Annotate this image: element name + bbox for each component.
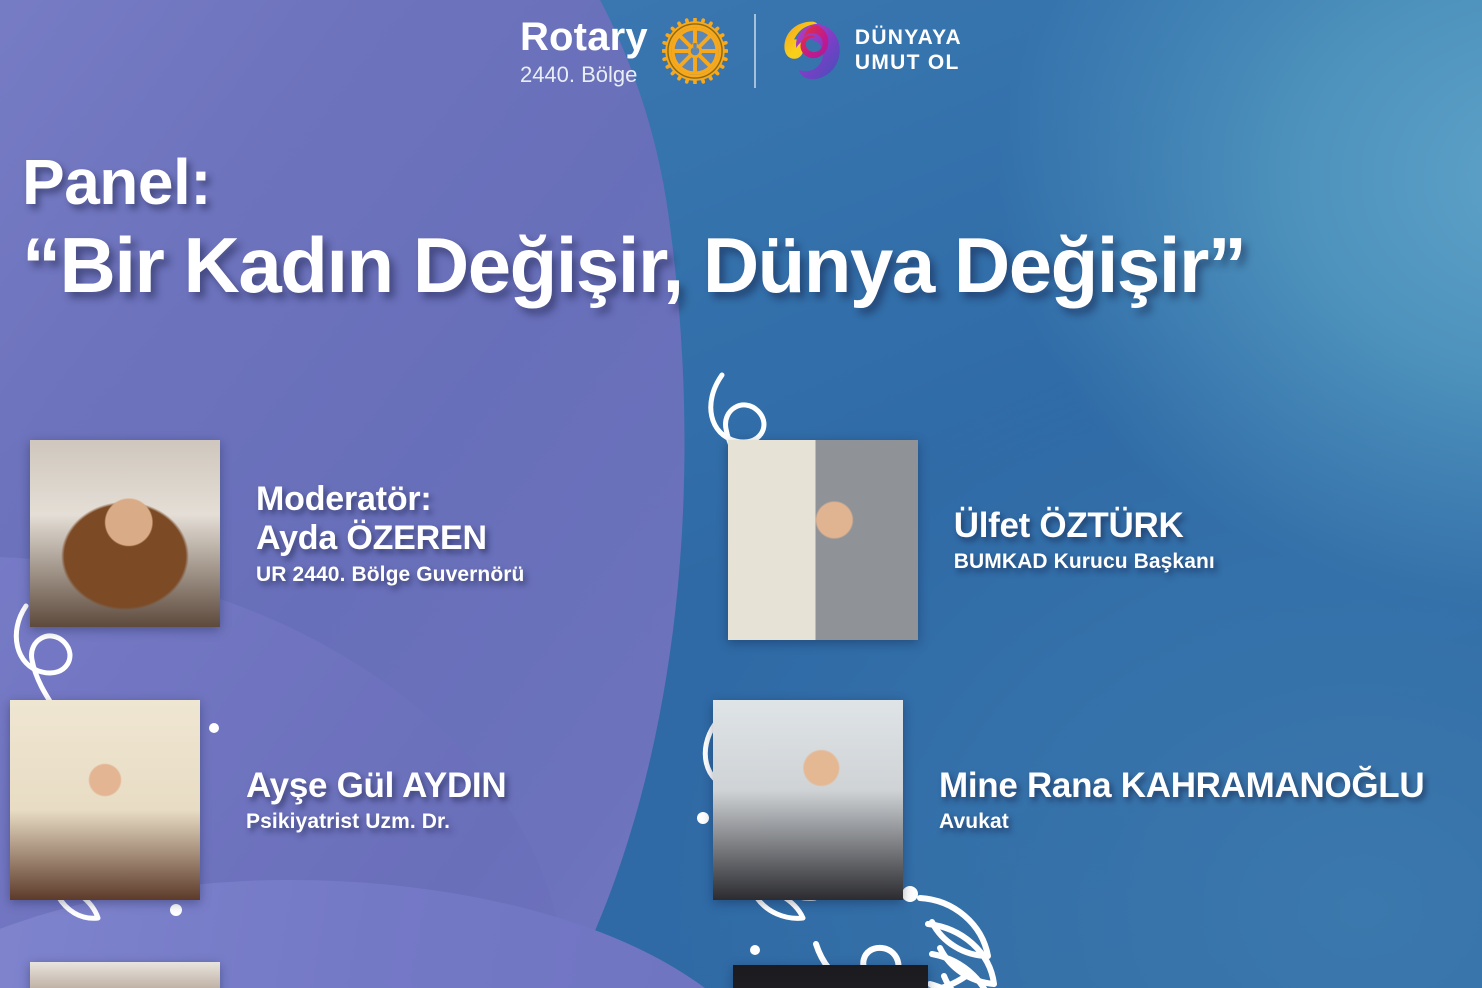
moderator-role: Moderatör:	[256, 480, 524, 519]
hope-line-2: UMUT OL	[855, 51, 962, 76]
speaker-card-ayse-gul-aydin[interactable]: Ayşe Gül AYDIN Psikiyatrist Uzm. Dr.	[0, 700, 710, 900]
speakers-row-1: Moderatör: Ayda ÖZEREN UR 2440. Bölge Gu…	[0, 440, 1482, 640]
speaker-subtitle-ulfet-ozturk: BUMKAD Kurucu Başkanı	[954, 550, 1215, 574]
speaker-card-moderator[interactable]: Moderatör: Ayda ÖZEREN UR 2440. Bölge Gu…	[0, 440, 725, 627]
hope-line-1: DÜNYAYA	[855, 26, 962, 51]
speaker-name-ayse-gul-aydin: Ayşe Gül AYDIN	[246, 766, 506, 805]
panel-title: “Bir Kadın Değişir, Dünya Değişir”	[22, 226, 1245, 306]
rotary-logo-lockup: Rotary 2440. Bölge	[520, 17, 728, 86]
speaker-photo-ulfet-ozturk	[728, 440, 918, 640]
speaker-card-mine-rana[interactable]: Mine Rana KAHRAMANOĞLU Avukat	[710, 700, 1473, 900]
moderator-subtitle: UR 2440. Bölge Guvernörü	[256, 563, 524, 587]
speaker-subtitle-ayse-gul-aydin: Psikiyatrist Uzm. Dr.	[246, 810, 506, 834]
rotary-wordmark: Rotary 2440. Bölge	[520, 17, 648, 86]
poster-canvas: Rotary 2440. Bölge	[0, 0, 1482, 988]
rotary-wheel-icon	[662, 18, 728, 84]
speaker-photo-row3-left-partial	[30, 962, 220, 988]
speaker-name-ulfet-ozturk: Ülfet ÖZTÜRK	[954, 506, 1215, 545]
speaker-subtitle-mine-rana-kahramanoglu: Avukat	[939, 810, 1424, 834]
panel-kicker: Panel:	[22, 150, 1245, 214]
dunyaya-umut-ol-swirl-icon	[782, 18, 842, 84]
speaker-photo-row3-right-partial	[733, 965, 928, 988]
dunyaya-umut-ol-wordmark: DÜNYAYA UMUT OL	[855, 26, 962, 76]
header-logo-bar: Rotary 2440. Bölge	[0, 14, 1482, 88]
logo-divider	[754, 14, 756, 88]
dunyaya-umut-ol-lockup: DÜNYAYA UMUT OL	[782, 18, 962, 84]
speaker-info-mine-rana: Mine Rana KAHRAMANOĞLU Avukat	[939, 766, 1424, 834]
rotary-region: 2440. Bölge	[520, 64, 637, 86]
speaker-photo-ayda-ozeren	[30, 440, 220, 627]
speakers-row-2: Ayşe Gül AYDIN Psikiyatrist Uzm. Dr. Min…	[0, 700, 1482, 900]
speaker-info-ayse-gul-aydin: Ayşe Gül AYDIN Psikiyatrist Uzm. Dr.	[246, 766, 506, 834]
speaker-photo-mine-rana-kahramanoglu	[713, 700, 903, 900]
rotary-name: Rotary	[520, 17, 648, 57]
speaker-info-moderator: Moderatör: Ayda ÖZEREN UR 2440. Bölge Gu…	[256, 480, 524, 587]
title-block: Panel: “Bir Kadın Değişir, Dünya Değişir…	[22, 150, 1245, 306]
speakers-grid: Moderatör: Ayda ÖZEREN UR 2440. Bölge Gu…	[0, 440, 1482, 900]
speaker-photo-ayse-gul-aydin	[10, 700, 200, 900]
speaker-name-mine-rana-kahramanoglu: Mine Rana KAHRAMANOĞLU	[939, 766, 1424, 805]
speaker-card-ulfet-ozturk[interactable]: Ülfet ÖZTÜRK BUMKAD Kurucu Başkanı	[725, 440, 1482, 640]
moderator-name: Ayda ÖZEREN	[256, 519, 524, 558]
speaker-info-ulfet-ozturk: Ülfet ÖZTÜRK BUMKAD Kurucu Başkanı	[954, 506, 1215, 574]
